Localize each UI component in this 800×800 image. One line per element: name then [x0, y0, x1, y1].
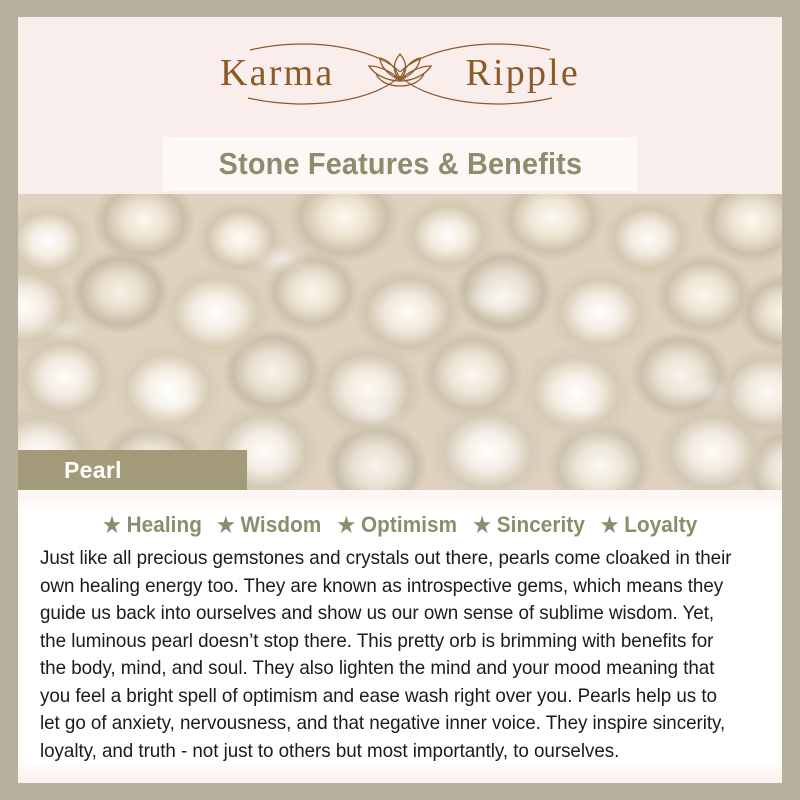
star-icon: ★: [337, 515, 355, 536]
keyword-list: ★ Healing ★ Wisdom ★ Optimism ★ Sincerit…: [18, 490, 782, 538]
logo-area: Karma Ripple: [0, 0, 800, 137]
lotus-icon: [369, 54, 431, 86]
star-icon: ★: [217, 515, 235, 536]
keyword-wisdom: ★ Wisdom: [208, 512, 321, 538]
keyword-optimism: ★ Optimism: [329, 512, 457, 538]
star-icon: ★: [473, 515, 491, 536]
keyword-sincerity: ★ Sincerity: [465, 512, 585, 538]
frame-border-top: [0, 0, 800, 17]
brand-logo[interactable]: Karma Ripple: [190, 38, 610, 110]
keyword-label: Sincerity: [497, 512, 585, 538]
logo-svg: Karma Ripple: [190, 38, 610, 110]
description-text: Just like all precious gemstones and cry…: [40, 545, 736, 765]
frame-border-right: [782, 0, 800, 800]
frame-border-left: [0, 0, 18, 800]
stone-name: Pearl: [64, 457, 122, 484]
stone-name-bar: Pearl: [18, 450, 247, 490]
infographic-canvas: Karma Ripple Stone Features & Benefits P…: [0, 0, 800, 800]
pearl-iridescence-layer: [0, 194, 800, 490]
star-icon: ★: [600, 515, 618, 536]
frame-border-bottom: [0, 783, 800, 800]
keyword-label: Healing: [126, 512, 201, 538]
keyword-label: Optimism: [361, 512, 457, 538]
keyword-label: Wisdom: [240, 512, 321, 538]
keyword-loyalty: ★ Loyalty: [592, 512, 697, 538]
brand-name-left: Karma: [220, 52, 334, 94]
description-panel: ★ Healing ★ Wisdom ★ Optimism ★ Sincerit…: [18, 490, 782, 783]
brand-name-right: Ripple: [465, 52, 580, 94]
page-title: Stone Features & Benefits: [218, 146, 582, 182]
keyword-label: Loyalty: [624, 512, 697, 538]
pearl-photo: [0, 194, 800, 490]
section-title-banner: Stone Features & Benefits: [163, 137, 637, 191]
star-icon: ★: [103, 515, 121, 536]
keyword-healing: ★ Healing: [103, 512, 202, 538]
